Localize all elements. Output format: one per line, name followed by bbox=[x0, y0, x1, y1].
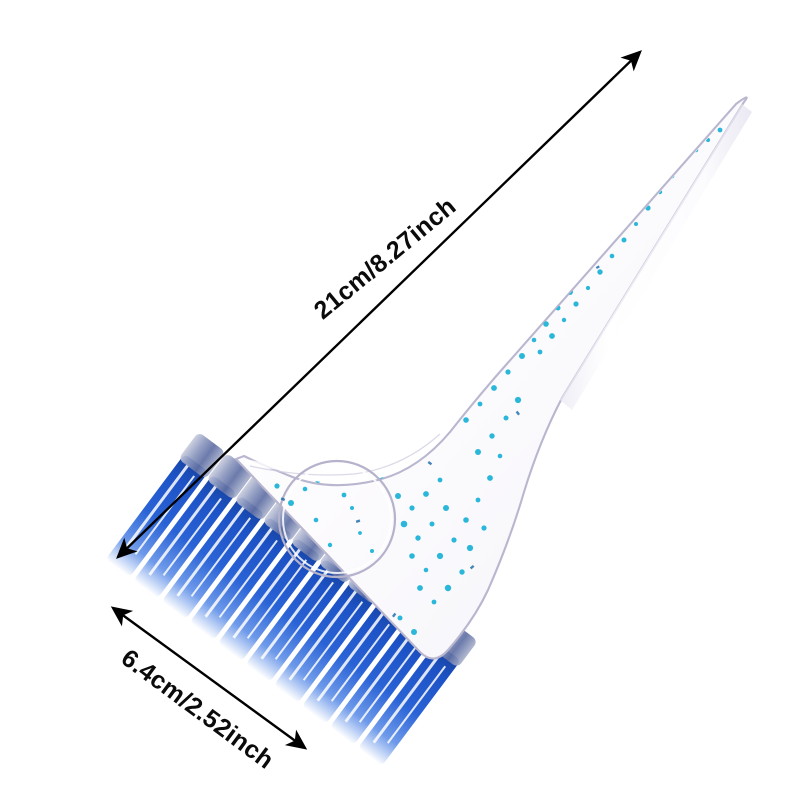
product-illustration bbox=[0, 0, 800, 800]
product-image-canvas: 21cm/8.27inch 6.4cm/2.52inch bbox=[0, 0, 800, 800]
